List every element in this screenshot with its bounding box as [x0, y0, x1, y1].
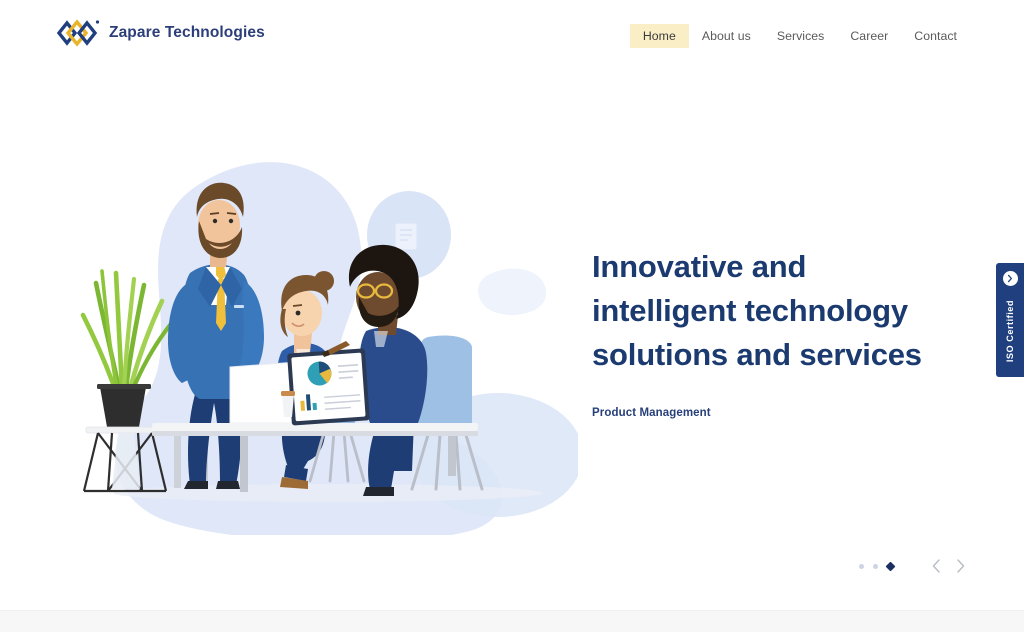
nav-item-services[interactable]: Services — [764, 24, 838, 48]
hero-subtitle: Product Management — [592, 407, 952, 419]
page-bottom-strip — [0, 610, 1024, 632]
carousel-dot-1[interactable] — [859, 564, 864, 569]
hero-copy: Innovative and intelligent technology so… — [592, 245, 952, 419]
page-root: Zapare Technologies Home About us Servic… — [0, 0, 1024, 632]
carousel-dot-3[interactable] — [886, 561, 896, 571]
site-header: Zapare Technologies Home About us Servic… — [0, 0, 1024, 70]
nav-item-contact[interactable]: Contact — [901, 24, 970, 48]
business-meeting-illustration — [78, 155, 578, 535]
main-navigation: Home About us Services Career Contact — [630, 24, 970, 48]
brand-name: Zapare Technologies — [109, 24, 265, 42]
hero-section: Innovative and intelligent technology so… — [0, 70, 1024, 610]
carousel-dot-2[interactable] — [873, 564, 878, 569]
carousel-next-button[interactable] — [948, 554, 972, 578]
iso-certified-label-wrap: ISO Certified — [1005, 286, 1015, 377]
carousel-controls — [859, 554, 972, 578]
carousel-dots — [859, 563, 894, 570]
page-title: Innovative and intelligent technology so… — [592, 245, 952, 377]
nav-item-about-us[interactable]: About us — [689, 24, 764, 48]
iso-certified-tab[interactable]: ISO Certified — [996, 263, 1024, 377]
nav-item-home[interactable]: Home — [630, 24, 689, 48]
chevron-right-icon[interactable] — [1003, 271, 1018, 286]
diamond-logo-icon — [56, 19, 100, 47]
nav-item-career[interactable]: Career — [837, 24, 901, 48]
brand-logo[interactable]: Zapare Technologies — [56, 19, 265, 47]
carousel-prev-button[interactable] — [924, 554, 948, 578]
iso-certified-label: ISO Certified — [1005, 300, 1015, 362]
